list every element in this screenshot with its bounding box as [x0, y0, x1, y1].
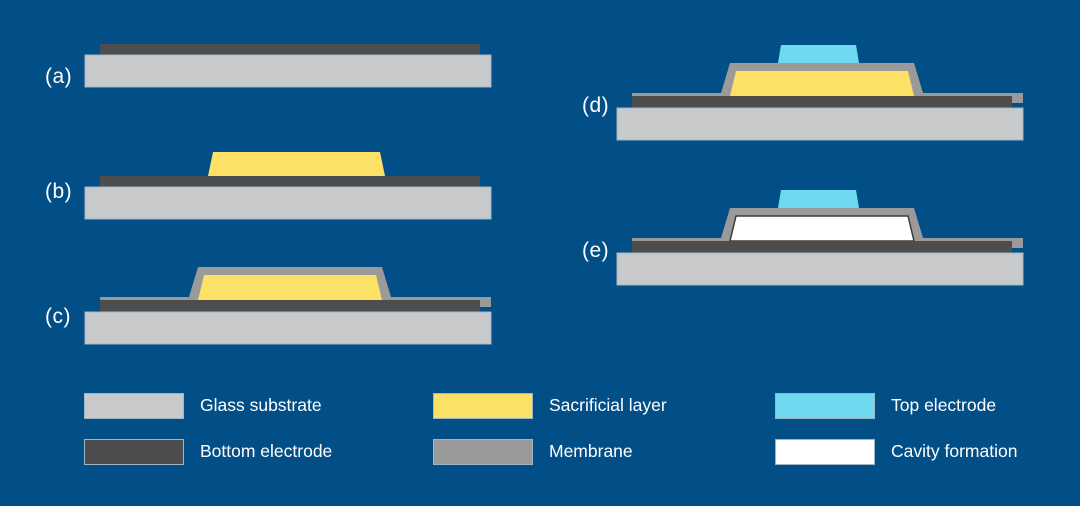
cavity-formation-layer [730, 216, 914, 241]
bottom-electrode-layer [100, 300, 480, 312]
top-electrode-layer [778, 190, 859, 208]
sacrificial-layer-swatch [433, 393, 533, 419]
panel-d-diagram [617, 42, 1029, 124]
legend-label: Bottom electrode [200, 443, 332, 461]
legend-label: Sacrificial layer [549, 397, 667, 415]
legend-item-cavity-formation: Cavity formation [775, 439, 1017, 465]
legend-label: Top electrode [891, 397, 996, 415]
legend: Glass substrate Bottom electrode Sacrifi… [84, 388, 1024, 474]
legend-item-membrane: Membrane [433, 439, 633, 465]
glass-substrate-layer [617, 108, 1023, 140]
legend-item-glass-substrate: Glass substrate [84, 393, 322, 419]
panel-label-b: (b) [45, 181, 72, 202]
process-flow-figure: (a) (b) (c) (d) [0, 0, 1080, 506]
top-electrode-layer [778, 45, 859, 63]
cavity-formation-swatch [775, 439, 875, 465]
panel-label-d: (d) [582, 95, 609, 116]
glass-substrate-layer [85, 55, 491, 87]
membrane-swatch [433, 439, 533, 465]
bottom-electrode-layer [632, 96, 1012, 108]
panel-label-e: (e) [582, 240, 609, 261]
legend-item-sacrificial-layer: Sacrificial layer [433, 393, 667, 419]
glass-substrate-swatch [84, 393, 184, 419]
legend-item-top-electrode: Top electrode [775, 393, 996, 419]
glass-substrate-layer [85, 187, 491, 219]
sacrificial-layer-layer [208, 152, 385, 176]
panel-e-diagram [617, 187, 1029, 269]
bottom-electrode-swatch [84, 439, 184, 465]
panel-b-diagram [85, 150, 495, 210]
legend-item-bottom-electrode: Bottom electrode [84, 439, 332, 465]
legend-label: Membrane [549, 443, 633, 461]
panel-a-diagram [85, 44, 495, 94]
panel-label-a: (a) [45, 66, 72, 87]
panel-c-diagram [85, 265, 497, 335]
sacrificial-layer-layer [198, 275, 382, 300]
top-electrode-swatch [775, 393, 875, 419]
legend-label: Glass substrate [200, 397, 322, 415]
bottom-electrode-layer [100, 44, 480, 55]
panel-label-c: (c) [45, 306, 71, 327]
glass-substrate-layer [617, 253, 1023, 285]
bottom-electrode-layer [100, 176, 480, 187]
bottom-electrode-layer [632, 241, 1012, 253]
legend-label: Cavity formation [891, 443, 1017, 461]
sacrificial-layer-layer [730, 71, 914, 96]
glass-substrate-layer [85, 312, 491, 344]
